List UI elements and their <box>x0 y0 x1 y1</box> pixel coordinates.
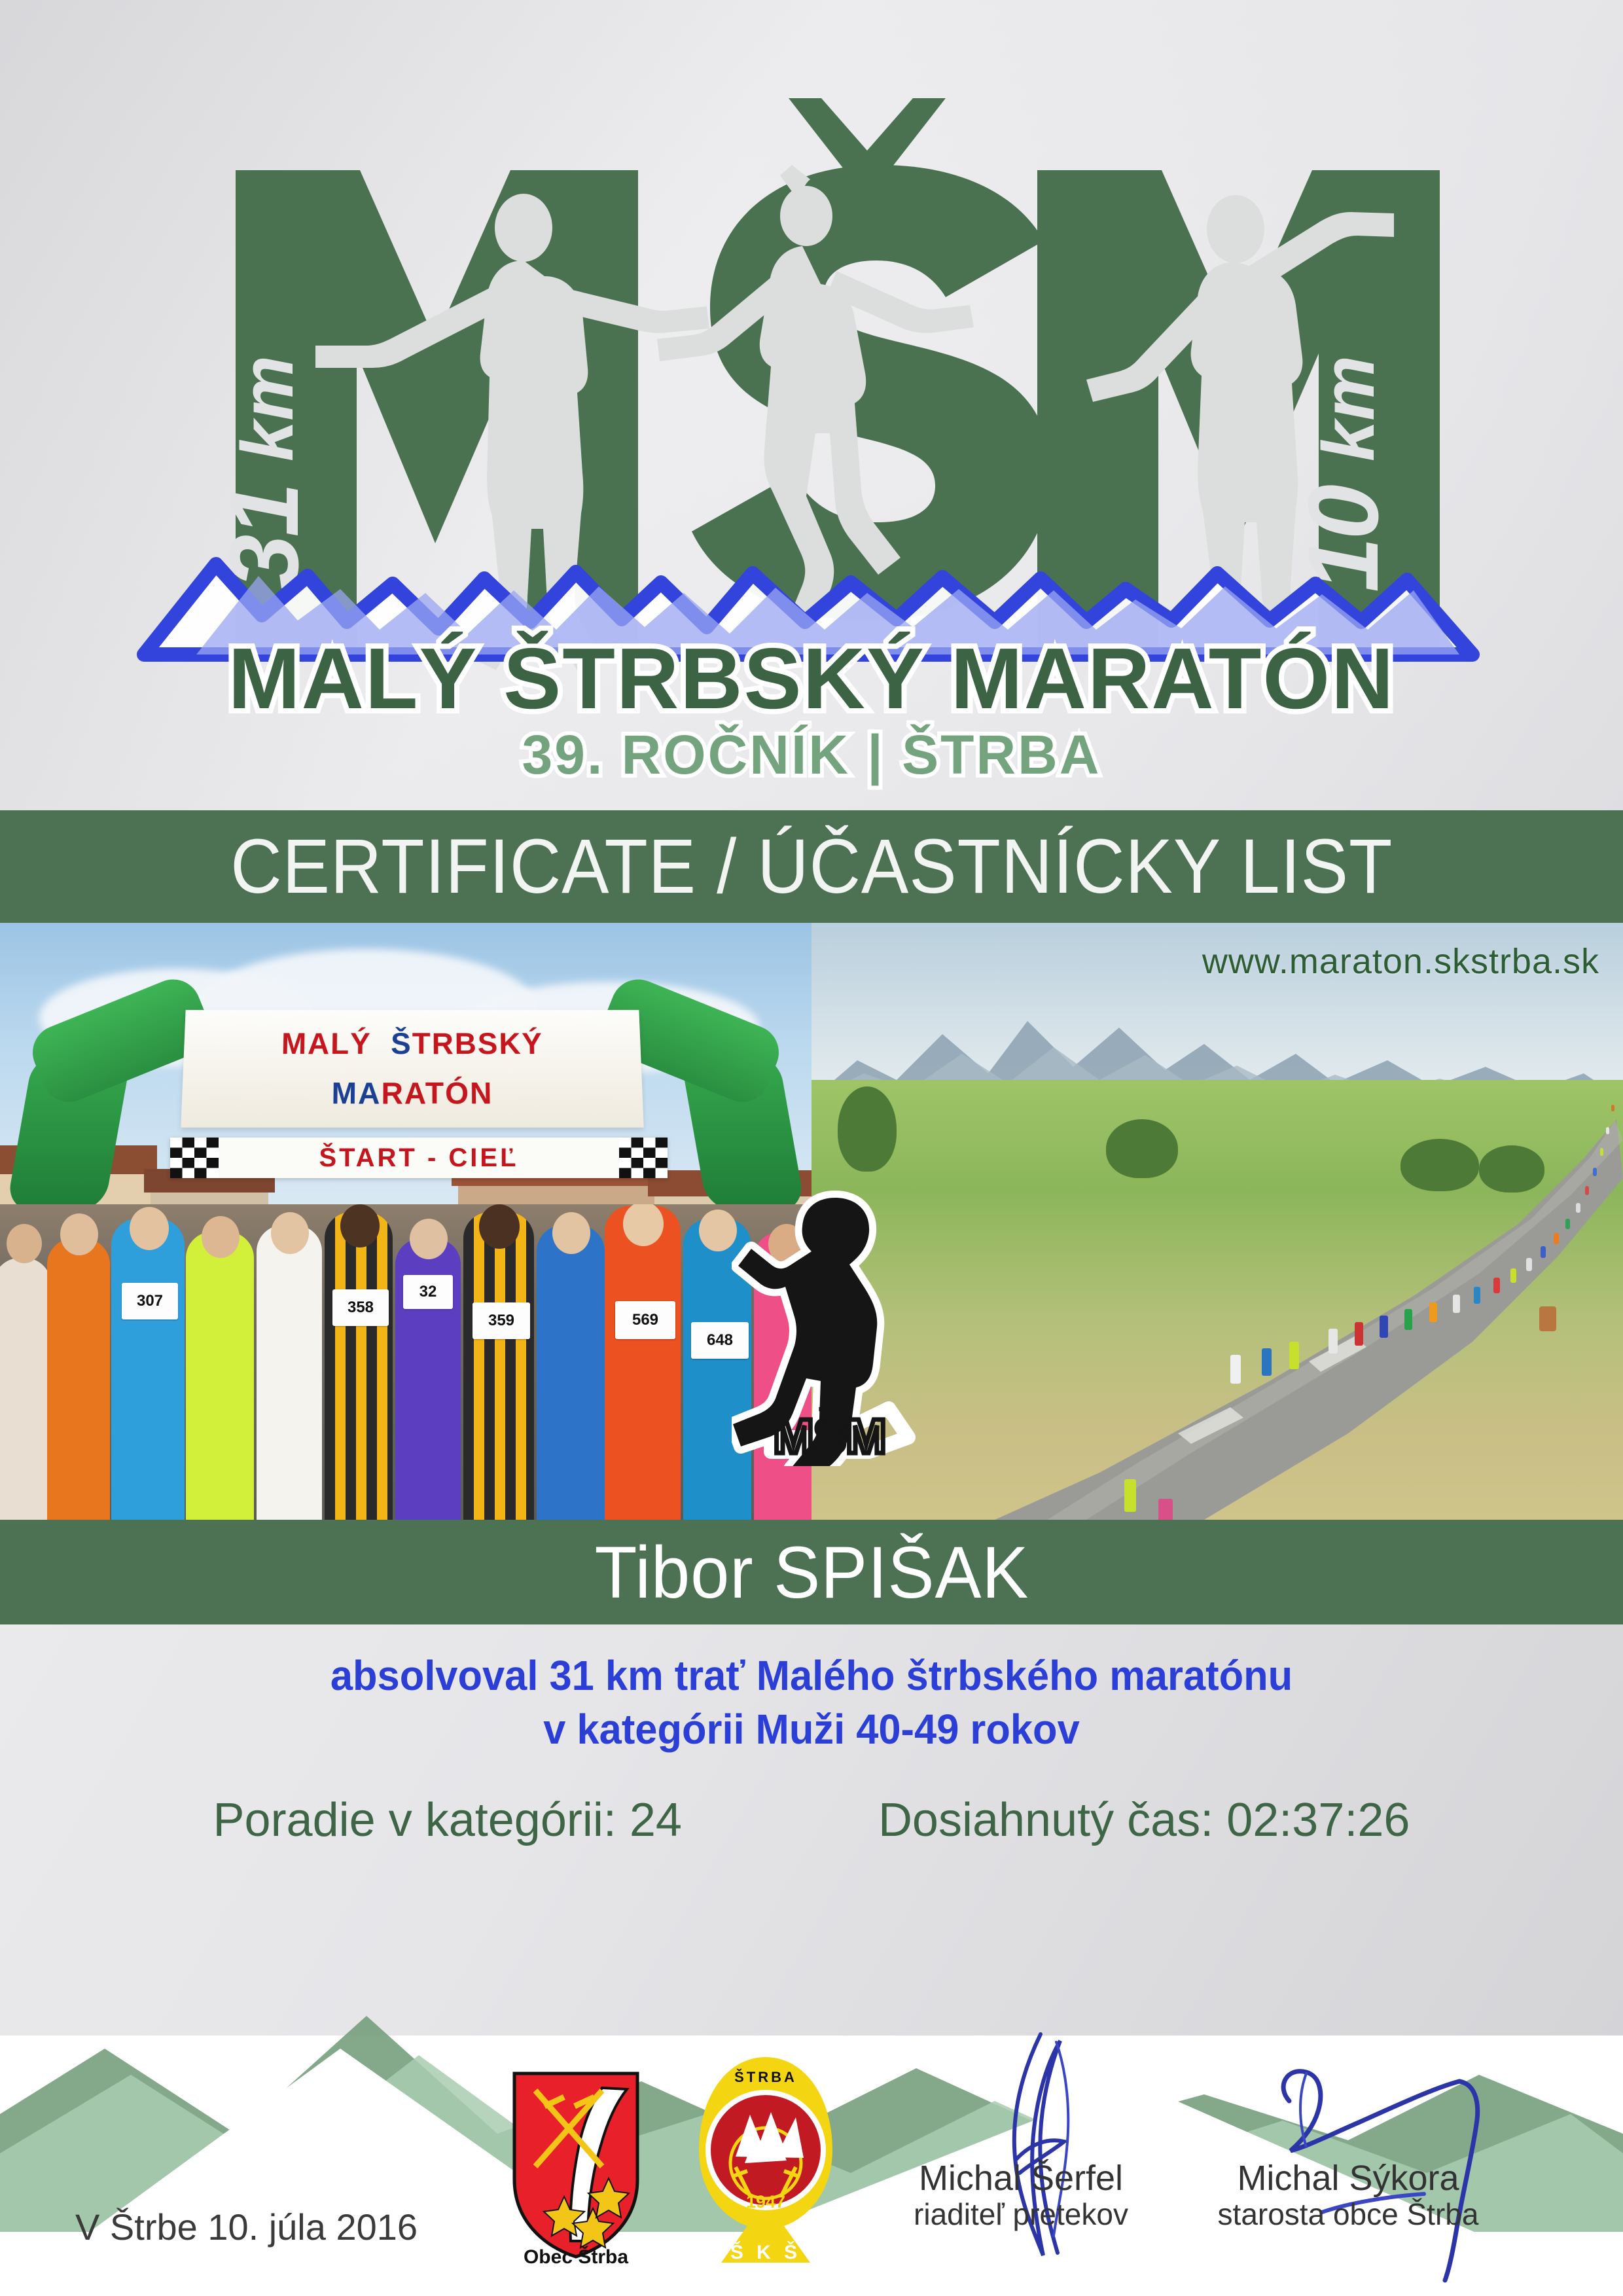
bib-number: 569 <box>615 1301 675 1339</box>
bib-number: 358 <box>332 1289 389 1326</box>
msm-runner-badge-icon: MŠM <box>732 1178 928 1466</box>
svg-text:km: km <box>1308 355 1389 461</box>
description-line-1: absolvoval 31 km trať Malého štrbského m… <box>33 1649 1591 1703</box>
sks-strba-club-emblem-icon: 1947 ŠTRBA Š K Š <box>687 2052 844 2268</box>
event-logo: 31 km <box>0 0 1623 805</box>
participant-name-bar: Tibor SPIŠAK <box>0 1520 1623 1624</box>
bib-number: 307 <box>122 1283 178 1319</box>
club-founding-year: 1947 <box>746 2192 785 2212</box>
msm-badge-label: MŠM <box>774 1409 887 1463</box>
obec-strba-coat-of-arms-icon: Obec Štrba <box>504 2068 648 2265</box>
signatory-role: starosta obce Štrba <box>1198 2197 1499 2232</box>
obec-strba-label: Obec Štrba <box>524 2246 628 2265</box>
signature-block-race-director: Michal Šerfel riaditeľ pretekov <box>870 2160 1171 2232</box>
bib-number: 359 <box>473 1302 530 1339</box>
certificate-title: CERTIFICATE / ÚČASTNÍCKY LIST <box>230 822 1393 911</box>
course-landscape-photo: www.maraton.skstrba.sk <box>811 923 1623 1520</box>
svg-text:km: km <box>226 355 308 461</box>
signatory-name: Michal Sýkora <box>1198 2160 1499 2197</box>
start-finish-text: ŠTART - CIEĽ <box>319 1143 518 1173</box>
signature-block-mayor: Michal Sýkora starosta obce Štrba <box>1198 2160 1499 2232</box>
runner-crowd: 307 358 32 359 569 <box>0 1204 811 1520</box>
website-url[interactable]: www.maraton.skstrba.sk <box>1202 941 1599 982</box>
start-line-photo: MALÝ ŠTRBSKÝ MARATÓN ŠTART - CIEĽ <box>0 923 811 1520</box>
description-line-2: v kategórii Muži 40-49 rokov <box>33 1703 1591 1757</box>
certificate-page: 31 km <box>0 0 1623 2296</box>
logo-title-text: MALÝ ŠTRBSKÝ MARATÓN <box>228 630 1395 726</box>
achievement-description: absolvoval 31 km trať Malého štrbského m… <box>33 1649 1591 1757</box>
logo-graphic: 31 km <box>0 0 1623 805</box>
arch-banner-line2: MARATÓN <box>331 1075 493 1111</box>
svg-text:10: 10 <box>1288 484 1399 592</box>
logo-subtitle-text: 39. ROČNÍK | ŠTRBA <box>522 724 1101 786</box>
club-top-text: ŠTRBA <box>734 2069 797 2085</box>
participant-name: Tibor SPIŠAK <box>594 1530 1029 1615</box>
start-finish-banner: ŠTART - CIEĽ <box>170 1138 668 1178</box>
arch-banner: MALÝ ŠTRBSKÝ MARATÓN <box>181 1010 643 1128</box>
arch-banner-line1: MALÝ ŠTRBSKÝ <box>281 1026 543 1061</box>
certificate-title-bar: CERTIFICATE / ÚČASTNÍCKY LIST <box>0 810 1623 923</box>
club-bottom-text: Š K Š <box>730 2241 801 2263</box>
category-rank: Poradie v kategórii: 24 <box>213 1793 682 1847</box>
signatory-role: riaditeľ pretekov <box>870 2197 1171 2232</box>
issue-date: V Štrbe 10. júla 2016 <box>75 2206 418 2248</box>
bib-number: 32 <box>403 1275 453 1309</box>
signatory-name: Michal Šerfel <box>870 2160 1171 2197</box>
results-row: Poradie v kategórii: 24 Dosiahnutý čas: … <box>0 1793 1623 1847</box>
finish-time: Dosiahnutý čas: 02:37:26 <box>878 1793 1410 1847</box>
start-arch: MALÝ ŠTRBSKÝ MARATÓN ŠTART - CIEĽ <box>20 962 792 1178</box>
